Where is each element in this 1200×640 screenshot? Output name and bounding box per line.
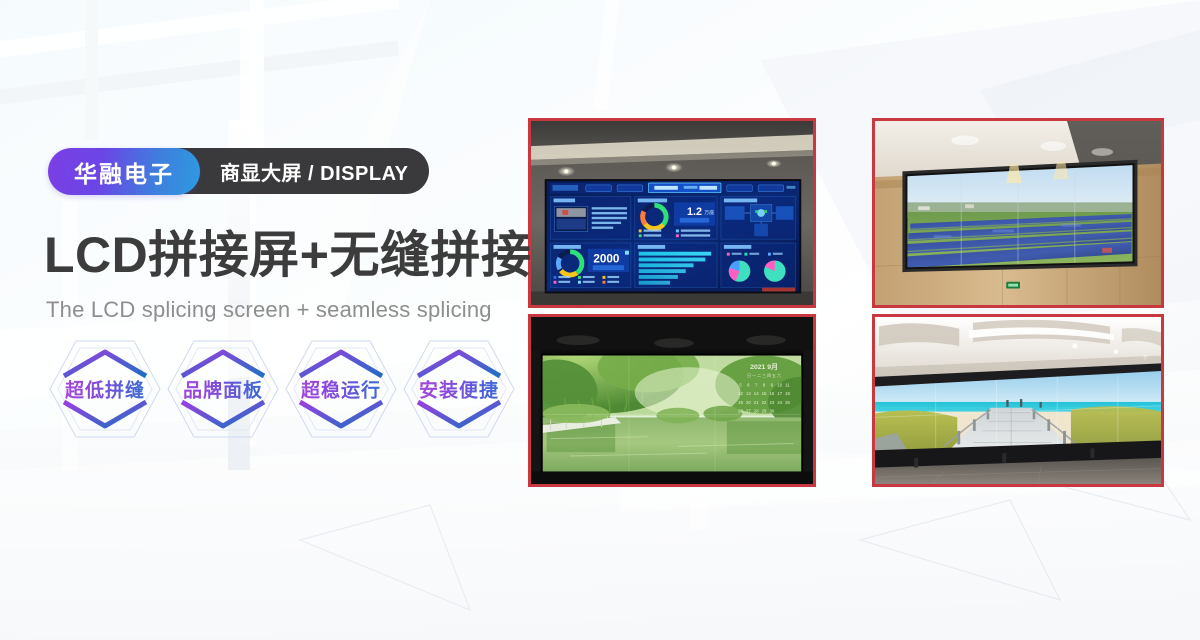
feature-hexagon: 超稳运行 <box>282 336 400 442</box>
feature-hexagon-label: 超低拼缝 <box>46 376 164 403</box>
dashboard-kpi-value: 1.2 <box>687 206 702 218</box>
feature-hexagon: 安装便捷 <box>400 336 518 442</box>
svg-text:27: 27 <box>746 409 751 414</box>
svg-text:30: 30 <box>769 409 774 414</box>
headline-column: 商显大屏 / DISPLAY 华融电子 LCD拼接屏+无缝拼接 The LCD … <box>44 0 544 640</box>
gallery-photo-lake-willow-wall[interactable]: 2021 9月 日 一 二 三 四 五 六 567 891011 121314 … <box>528 314 816 487</box>
svg-text:17: 17 <box>777 391 782 396</box>
svg-text:16: 16 <box>769 391 774 396</box>
svg-text:25: 25 <box>785 400 790 405</box>
svg-text:20: 20 <box>746 400 751 405</box>
svg-text:23: 23 <box>769 400 774 405</box>
dashboard-kpi-secondary: 2000 <box>593 252 620 265</box>
svg-text:11: 11 <box>785 383 790 388</box>
product-photo-gallery: 1.2 万座 <box>528 118 1168 490</box>
svg-text:24: 24 <box>777 400 782 405</box>
page-title: LCD拼接屏+无缝拼接 <box>44 228 531 283</box>
svg-text:10: 10 <box>777 383 782 388</box>
svg-text:13: 13 <box>746 391 751 396</box>
feature-hexagon-label: 超稳运行 <box>282 376 400 403</box>
promo-banner: 商显大屏 / DISPLAY 华融电子 LCD拼接屏+无缝拼接 The LCD … <box>0 0 1200 640</box>
svg-text:2021 9月: 2021 9月 <box>750 363 778 371</box>
svg-text:万座: 万座 <box>704 209 714 216</box>
svg-text:15: 15 <box>762 391 767 396</box>
gallery-photo-solar-farm-wall[interactable] <box>872 118 1164 308</box>
svg-text:12: 12 <box>738 391 743 396</box>
brand-badge-label: 华融电子 <box>74 155 174 189</box>
svg-text:14: 14 <box>754 391 759 396</box>
svg-text:18: 18 <box>785 391 790 396</box>
gallery-photo-dashboard-wall[interactable]: 1.2 万座 <box>528 118 816 308</box>
svg-text:21: 21 <box>754 400 759 405</box>
svg-text:22: 22 <box>762 400 767 405</box>
feature-hexagon: 超低拼缝 <box>46 336 164 442</box>
feature-hexagon: 品牌面板 <box>164 336 282 442</box>
svg-text:28: 28 <box>754 409 759 414</box>
svg-text:29: 29 <box>762 409 767 414</box>
brand-badge: 华融电子 <box>48 148 200 195</box>
category-badge-label: 商显大屏 / DISPLAY <box>220 157 409 186</box>
feature-hexagon-row: 超低拼缝 品牌面板 <box>46 336 518 442</box>
svg-text:26: 26 <box>738 409 743 414</box>
svg-text:19: 19 <box>738 400 743 405</box>
page-subtitle: The LCD splicing screen + seamless splic… <box>46 297 492 323</box>
svg-text:日 一 二 三 四 五 六: 日 一 二 三 四 五 六 <box>747 373 781 378</box>
feature-hexagon-label: 安装便捷 <box>400 376 518 403</box>
gallery-photo-beach-boardwalk-wall[interactable] <box>872 314 1164 487</box>
feature-hexagon-label: 品牌面板 <box>164 376 282 403</box>
